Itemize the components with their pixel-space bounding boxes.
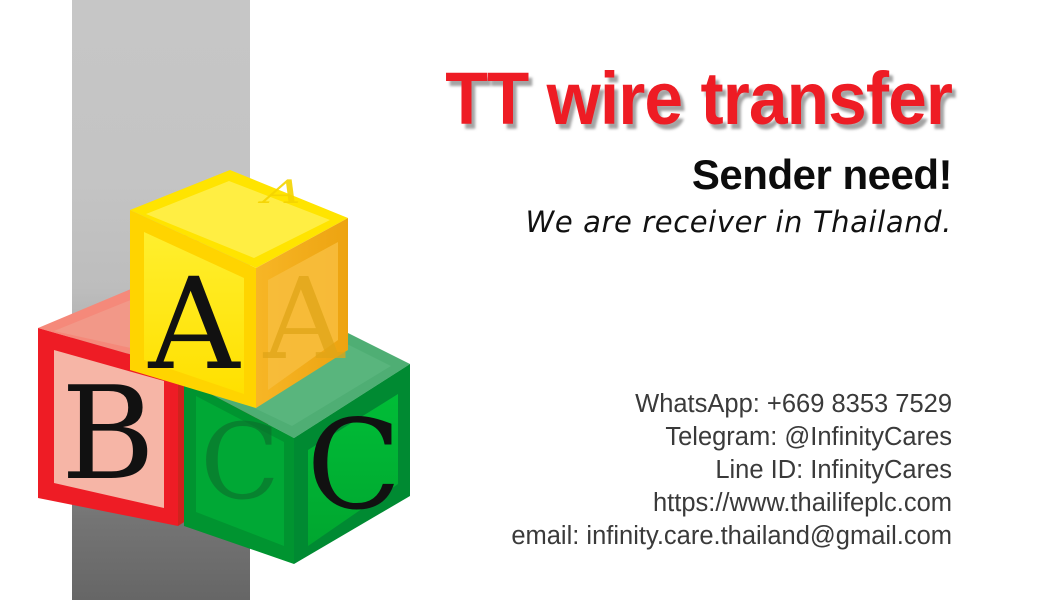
contact-line-email[interactable]: email: infinity.care.thailand@gmail.com — [0, 520, 952, 553]
contact-line-telegram: Telegram: @InfinityCares — [0, 421, 952, 454]
svg-text:A: A — [148, 251, 242, 398]
subtitle: Sender need! — [0, 152, 952, 198]
svg-text:A: A — [263, 255, 346, 385]
page-title: TT wire transfer — [57, 62, 952, 136]
tagline: We are receiver in Thailand. — [0, 204, 952, 240]
contact-block: WhatsApp: +669 8353 7529 Telegram: @Infi… — [0, 388, 952, 553]
contact-line-website[interactable]: https://www.thailifeplc.com — [0, 487, 952, 520]
contact-line-whatsapp: WhatsApp: +669 8353 7529 — [0, 388, 952, 421]
poster-canvas: B B C C C — [0, 0, 1063, 600]
contact-line-lineid: Line ID: InfinityCares — [0, 454, 952, 487]
